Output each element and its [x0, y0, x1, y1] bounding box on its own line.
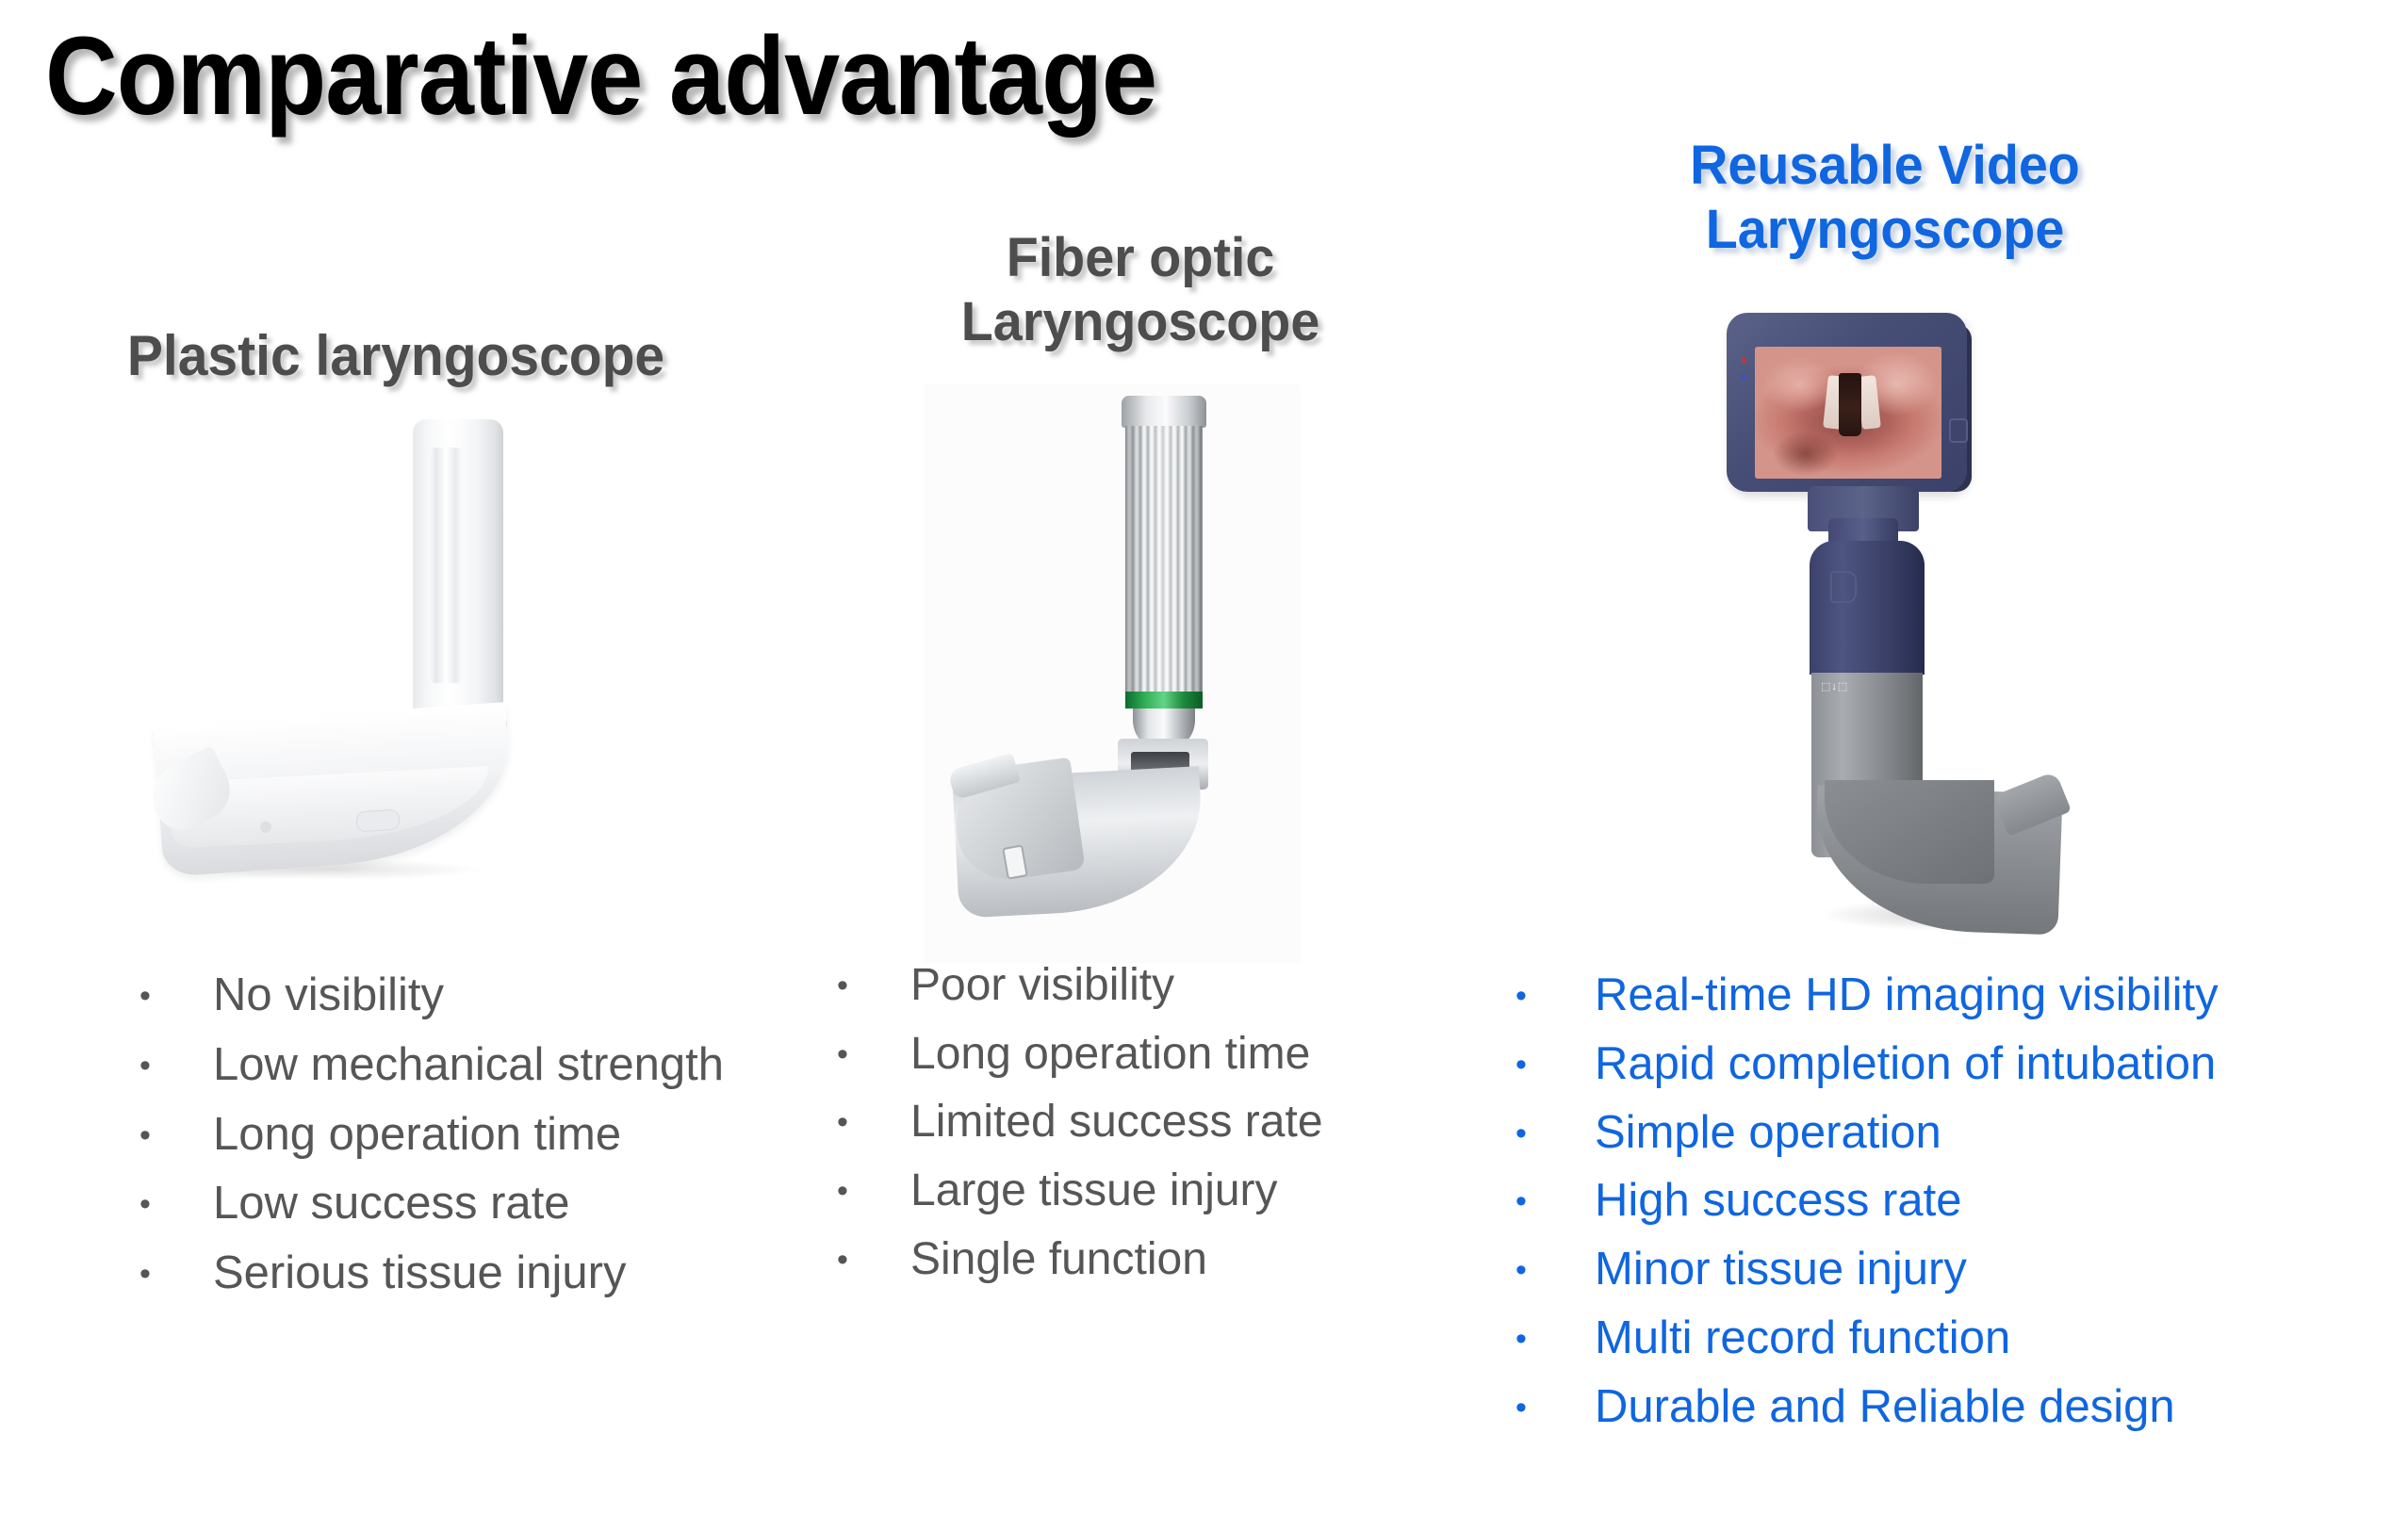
column-heading-fiber-line1: Fiber optic [896, 226, 1384, 290]
bullet-dot-icon: • [837, 959, 910, 1002]
fiber-handle-cap [1122, 396, 1206, 428]
bullet-list-plastic: • No visibility • Low mechanical strengt… [139, 969, 743, 1316]
reusable-video-laryngoscope-photo: ⬚↓⬚ [1687, 300, 2121, 959]
bullet-dot-icon: • [139, 1246, 213, 1290]
bullet-dot-icon: • [1515, 969, 1595, 1012]
list-item: • No visibility [139, 969, 743, 1023]
video-handle-upper [1810, 541, 1925, 675]
bullet-dot-icon: • [837, 1096, 910, 1138]
list-item: • High success rate [1515, 1174, 2401, 1229]
bullet-text: Poor visibility [910, 959, 1440, 1013]
fiber-optic-laryngoscope-photo [924, 384, 1301, 963]
bullet-text: Durable and Reliable design [1595, 1380, 2401, 1435]
bullet-dot-icon: • [837, 1165, 910, 1207]
bullet-text: Long operation time [213, 1108, 743, 1163]
bullet-text: No visibility [213, 969, 743, 1023]
bullet-dot-icon: • [1515, 1174, 1595, 1217]
list-item: • Single function [837, 1233, 1440, 1287]
lock-icon: ⬚↓⬚ [1821, 680, 1864, 693]
bullet-dot-icon: • [1515, 1380, 1595, 1424]
plastic-blade-bulb [260, 822, 271, 833]
bullet-list-fiber: • Poor visibility • Long operation time … [837, 959, 1440, 1301]
bullet-dot-icon: • [1515, 1243, 1595, 1286]
column-heading-fiber: Fiber optic Laryngoscope [896, 226, 1384, 354]
glottic-opening [1839, 373, 1861, 436]
list-item: • Durable and Reliable design [1515, 1380, 2401, 1435]
fiber-green-band [1125, 692, 1203, 709]
plastic-laryngoscope-photo [141, 396, 537, 923]
monitor-side-button [1949, 418, 1968, 443]
bullet-dot-icon: • [1515, 1311, 1595, 1355]
bullet-text: Simple operation [1595, 1106, 2401, 1161]
bullet-text: Low success rate [213, 1177, 743, 1231]
video-handle-button [1830, 571, 1857, 603]
bullet-text: Long operation time [910, 1028, 1440, 1082]
bullet-dot-icon: • [1515, 1106, 1595, 1149]
bullet-dot-icon: • [1515, 1037, 1595, 1081]
record-led-icon [1742, 358, 1746, 363]
video-screen [1755, 347, 1941, 479]
list-item: • Minor tissue injury [1515, 1243, 2401, 1297]
bullet-dot-icon: • [139, 1108, 213, 1151]
list-item: • Large tissue injury [837, 1165, 1440, 1218]
power-led-icon [1742, 375, 1746, 380]
bullet-dot-icon: • [139, 1038, 213, 1082]
column-heading-fiber-line2: Laryngoscope [896, 290, 1384, 354]
list-item: • Low mechanical strength [139, 1038, 743, 1093]
bullet-text: Real-time HD imaging visibility [1595, 969, 2401, 1023]
list-item: • Poor visibility [837, 959, 1440, 1013]
bullet-text: Single function [910, 1233, 1440, 1287]
bullet-dot-icon: • [139, 1177, 213, 1220]
bullet-dot-icon: • [837, 1028, 910, 1070]
bullet-text: Limited success rate [910, 1096, 1440, 1149]
list-item: • Low success rate [139, 1177, 743, 1231]
bullet-dot-icon: • [139, 969, 213, 1012]
bullet-text: High success rate [1595, 1174, 2401, 1229]
bullet-list-video: • Real-time HD imaging visibility • Rapi… [1515, 969, 2401, 1449]
bullet-text: Serious tissue injury [213, 1246, 743, 1301]
bullet-dot-icon: • [837, 1233, 910, 1276]
list-item: • Simple operation [1515, 1106, 2401, 1161]
bullet-text: Large tissue injury [910, 1165, 1440, 1218]
list-item: • Serious tissue injury [139, 1246, 743, 1301]
column-heading-plastic: Plastic laryngoscope [56, 323, 736, 389]
page-title: Comparative advantage [45, 21, 1156, 132]
column-heading-video-line2: Laryngoscope [1604, 198, 2165, 262]
airway-shadow-lower [1774, 432, 1837, 477]
list-item: • Multi record function [1515, 1311, 2401, 1366]
column-heading-video: Reusable Video Laryngoscope [1604, 134, 2165, 262]
list-item: • Rapid completion of intubation [1515, 1037, 2401, 1092]
list-item: • Real-time HD imaging visibility [1515, 969, 2401, 1023]
fiber-handle-shading [1125, 426, 1203, 709]
column-heading-video-line1: Reusable Video [1604, 134, 2165, 198]
list-item: • Long operation time [837, 1028, 1440, 1082]
bullet-text: Multi record function [1595, 1311, 2401, 1366]
bullet-text: Minor tissue injury [1595, 1243, 2401, 1297]
bullet-text: Rapid completion of intubation [1595, 1037, 2401, 1092]
plastic-handle-ridge [430, 448, 462, 683]
list-item: • Long operation time [139, 1108, 743, 1163]
list-item: • Limited success rate [837, 1096, 1440, 1149]
plastic-blade-slot [355, 808, 400, 832]
bullet-text: Low mechanical strength [213, 1038, 743, 1093]
